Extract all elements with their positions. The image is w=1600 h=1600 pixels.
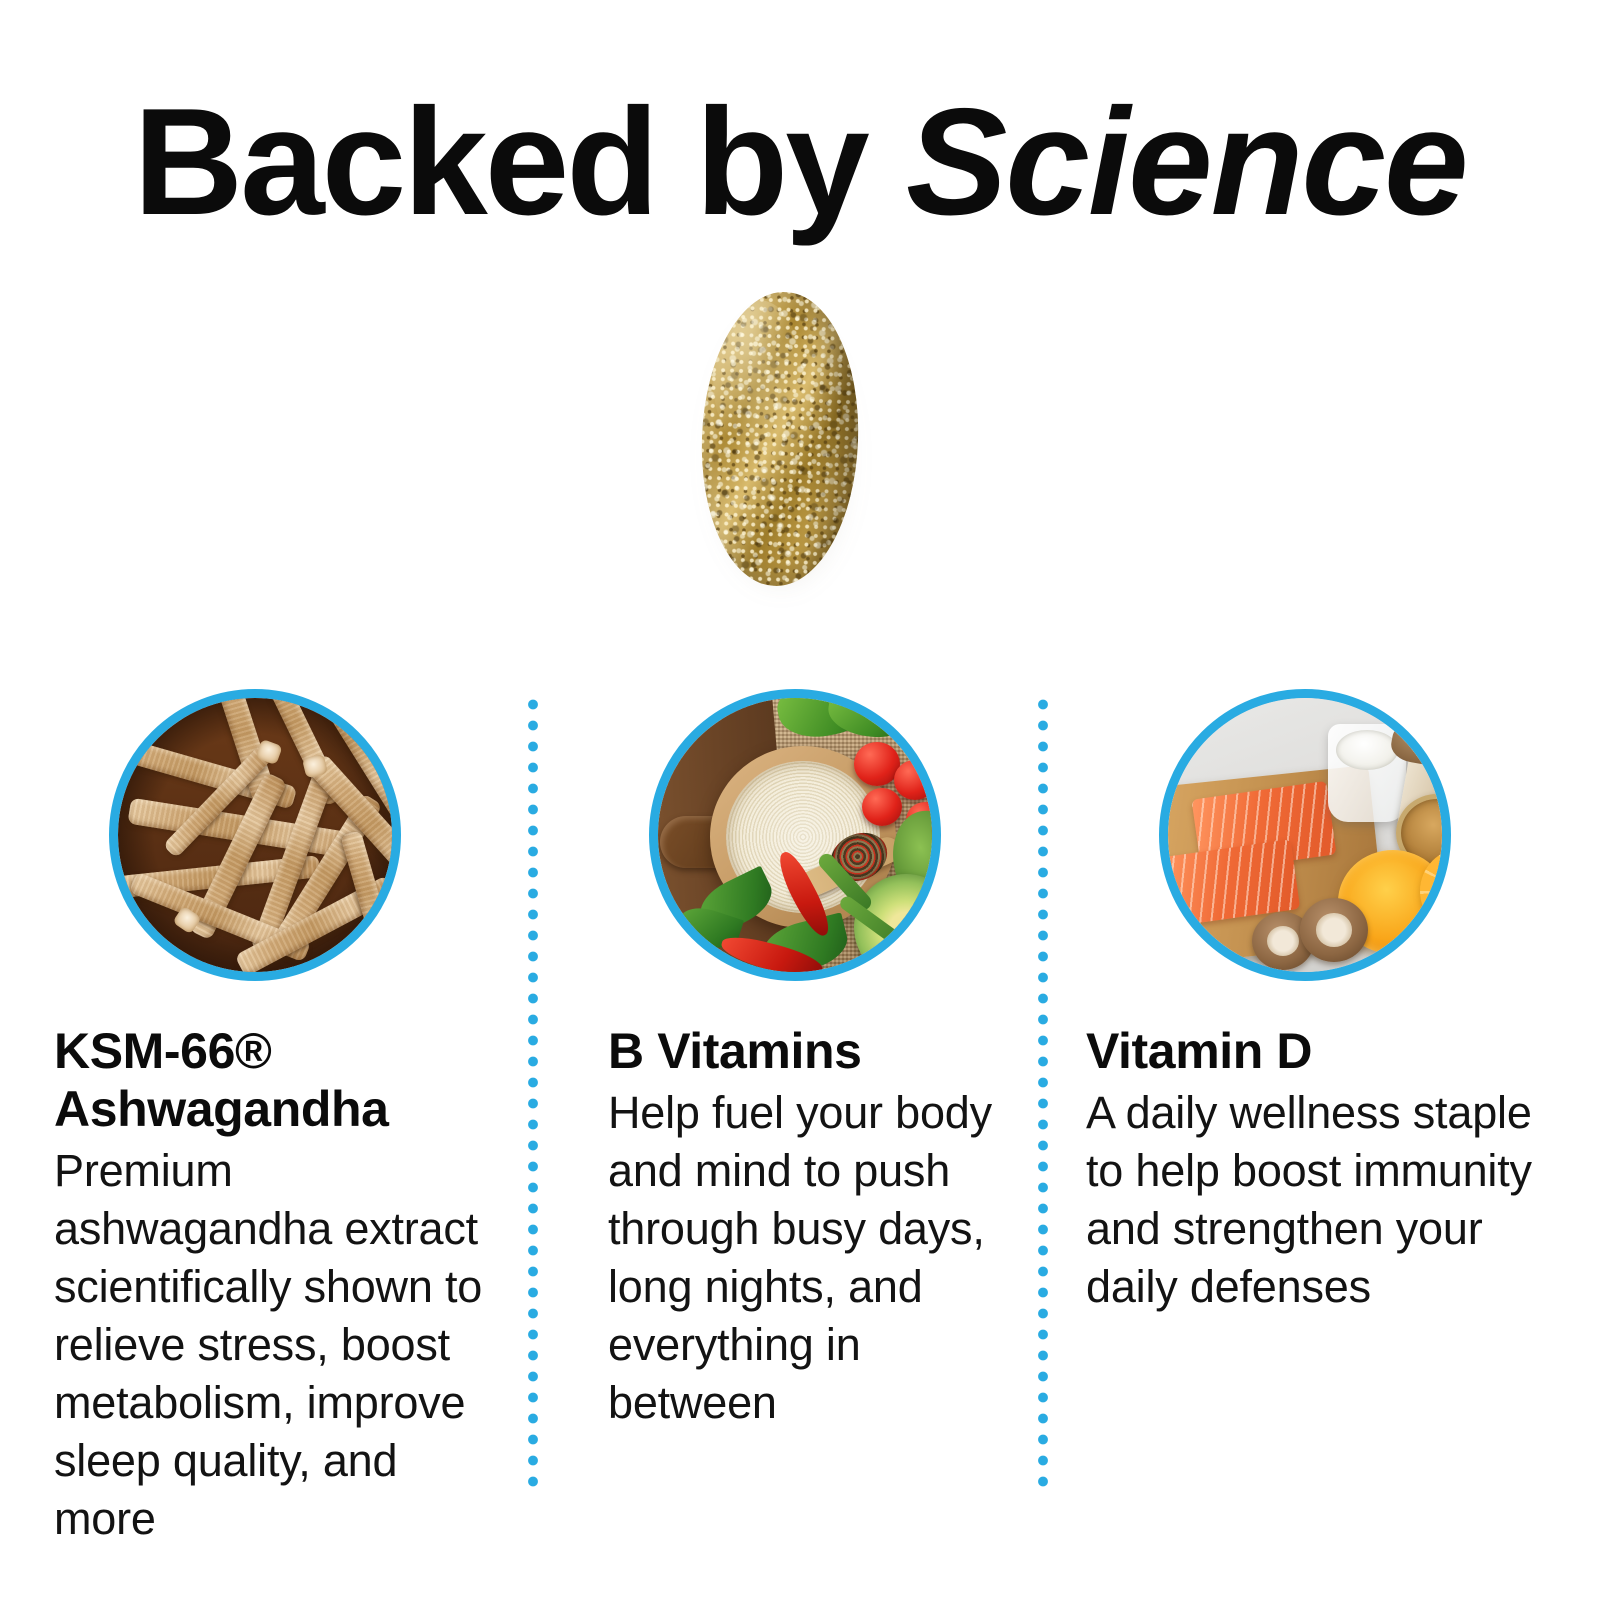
column-divider-2 [1038,694,1048,1494]
vitamin-d-foods-photo [1168,698,1442,972]
benefit-heading-ashwagandha: KSM-66® Ashwagandha [54,1022,506,1138]
ingredient-image-vitamin-d [1159,689,1451,981]
column-divider-1 [528,694,538,1494]
ingredient-image-b-vitamins [649,689,941,981]
benefit-body-vitamin-d: A daily wellness staple to help boost im… [1086,1084,1538,1316]
ingredient-image-ashwagandha [109,689,401,981]
benefit-text-vitamin-d: Vitamin D A daily wellness staple to hel… [1086,1022,1538,1316]
benefit-heading-vitamin-d: Vitamin D [1086,1022,1538,1080]
benefit-heading-b-vitamins: B Vitamins [608,1022,1008,1080]
benefit-text-ashwagandha: KSM-66® Ashwagandha Premium ashwagandha … [54,1022,506,1548]
benefit-text-b-vitamins: B Vitamins Help fuel your body and mind … [608,1022,1008,1432]
benefit-body-b-vitamins: Help fuel your body and mind to push thr… [608,1084,1008,1432]
benefit-body-ashwagandha: Premium ashwagandha extract scientifical… [54,1142,506,1548]
b-vitamin-foods-photo [658,698,932,972]
ashwagandha-roots-photo [118,698,392,972]
benefits-section: KSM-66® Ashwagandha Premium ashwagandha … [0,0,1600,1600]
